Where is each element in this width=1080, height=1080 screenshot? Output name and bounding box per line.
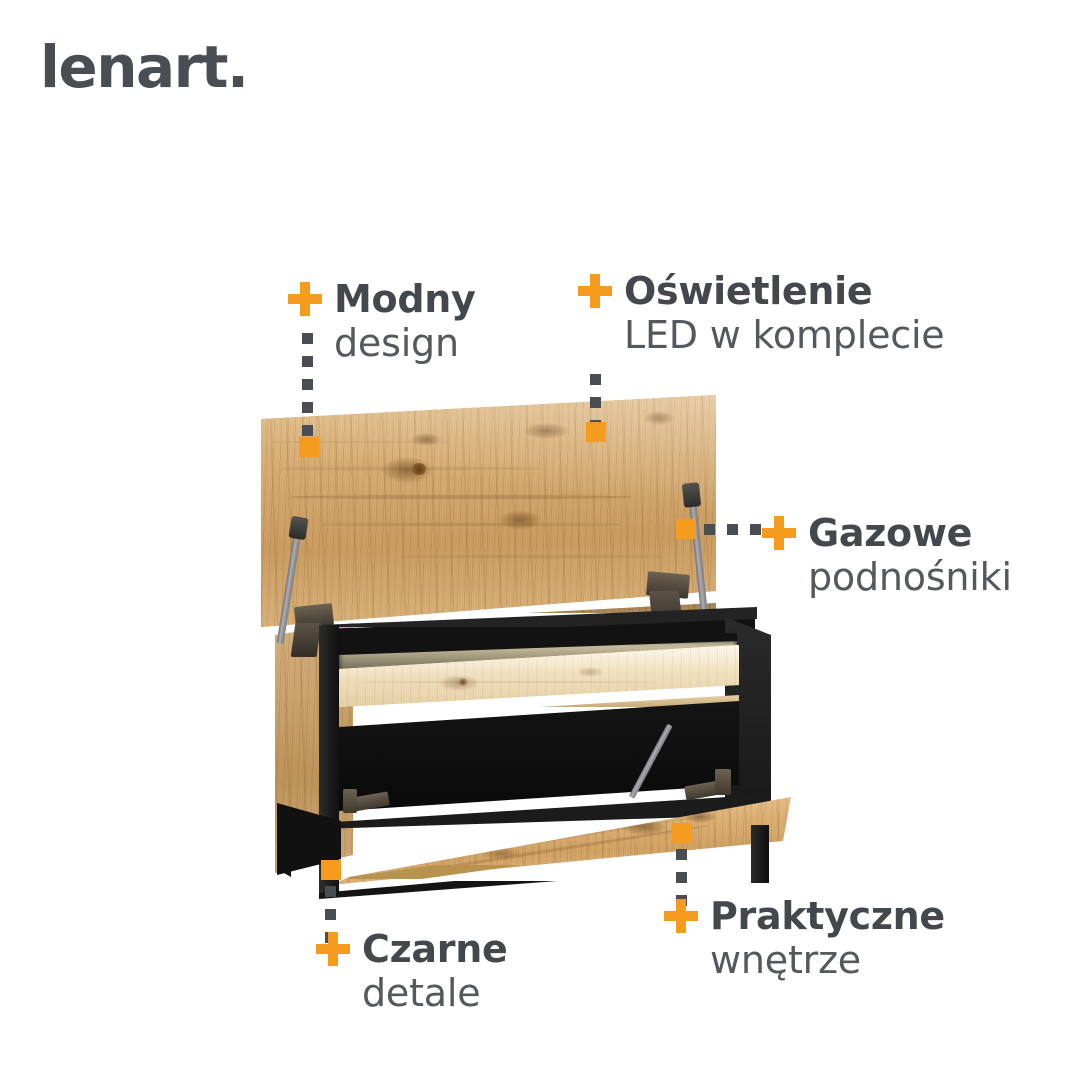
callout-praktyczne-title: Praktyczne — [710, 895, 945, 937]
product-illustration — [255, 395, 815, 895]
callout-gazowe: Gazowe podnośniki — [762, 512, 1012, 600]
plus-icon — [664, 899, 698, 933]
callout-praktyczne: Praktyczne wnętrze — [664, 895, 945, 983]
plus-icon — [316, 932, 350, 966]
callout-gazowe-subtitle: podnośniki — [808, 554, 1012, 600]
plus-icon — [288, 282, 322, 316]
marker-praktyczne — [672, 823, 692, 843]
marker-czarne — [321, 860, 341, 880]
marker-oswietlenie — [586, 422, 606, 442]
plus-icon — [762, 516, 796, 550]
callout-oswietlenie-title: Oświetlenie — [624, 270, 872, 312]
connector-gazowe — [704, 524, 761, 535]
plus-icon — [578, 274, 612, 308]
callout-oswietlenie-subtitle: LED w komplecie — [624, 312, 944, 358]
callout-gazowe-title: Gazowe — [808, 512, 972, 554]
leg-front-right — [751, 825, 769, 883]
gas-strut-right-head — [682, 482, 701, 508]
marker-modny — [299, 437, 319, 457]
callout-czarne: Czarne detale — [316, 928, 507, 1016]
drop-down-door-edge — [331, 865, 791, 879]
brand-logo: lenart. — [40, 38, 248, 96]
door-hinge-left-arm — [343, 789, 357, 813]
callout-modny-subtitle: design — [334, 320, 475, 366]
infographic-canvas: lenart. — [0, 0, 1080, 1080]
door-hinge-right-arm — [715, 769, 731, 795]
callout-czarne-subtitle: detale — [362, 970, 507, 1016]
marker-gazowe — [676, 519, 696, 539]
hinge-left-arm — [291, 623, 322, 657]
cabinet-interior-lower — [339, 701, 739, 811]
callout-oswietlenie: Oświetlenie LED w komplecie — [578, 270, 944, 358]
callout-modny-title: Modny — [334, 278, 475, 320]
callout-modny: Modny design — [288, 278, 475, 366]
callout-praktyczne-subtitle: wnętrze — [710, 937, 945, 983]
gas-strut-left-head — [288, 516, 308, 540]
callout-czarne-title: Czarne — [362, 928, 507, 970]
